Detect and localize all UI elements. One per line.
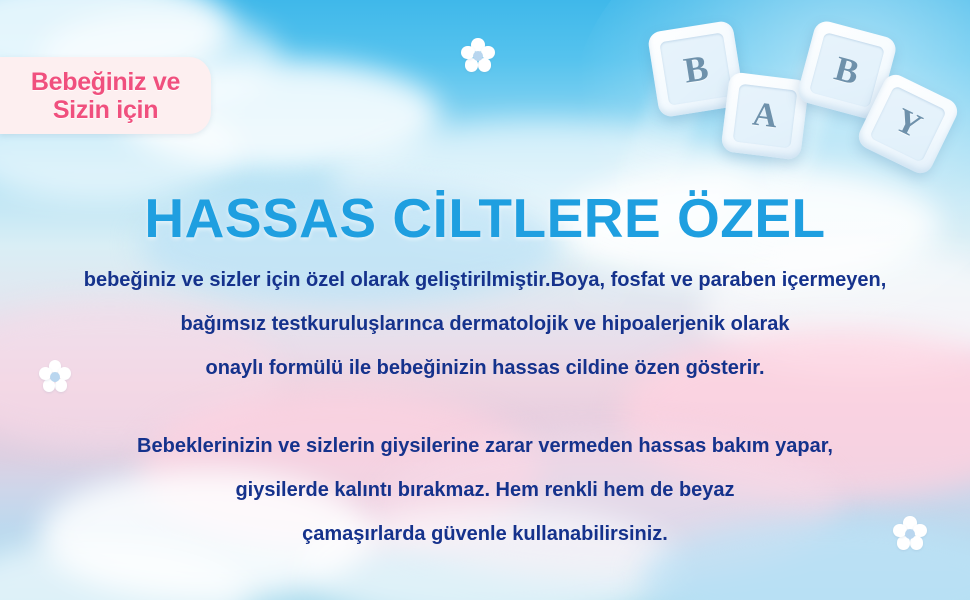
flower-petal	[481, 46, 495, 60]
description-paragraph-1: bebeğiniz ve sizler için özel olarak gel…	[0, 258, 970, 390]
baby-block-letter: A	[751, 98, 780, 135]
flower-petal	[471, 38, 485, 52]
flower-petal	[465, 58, 479, 72]
flower-top-center-icon	[458, 36, 498, 76]
page-title: HASSAS CİLTLERE ÖZEL	[0, 186, 970, 250]
paragraph-line: Bebeklerinizin ve sizlerin giysilerine z…	[0, 424, 970, 468]
flower-petal	[461, 46, 475, 60]
paragraph-line: bağımsız testkuruluşlarınca dermatolojik…	[0, 302, 970, 346]
baby-block-a-1: A	[720, 71, 809, 160]
paragraph-line: onaylı formülü ile bebeğinizin hassas ci…	[0, 346, 970, 390]
description-paragraph-2: Bebeklerinizin ve sizlerin giysilerine z…	[0, 424, 970, 556]
badge-line-1: Bebeğiniz ve	[31, 68, 180, 96]
promo-banner: Bebeğiniz ve Sizin için HASSAS CİLTLERE …	[0, 0, 970, 600]
paragraph-line: giysilerde kalıntı bırakmaz. Hem renkli …	[0, 468, 970, 512]
paragraph-line: bebeğiniz ve sizler için özel olarak gel…	[0, 258, 970, 302]
flower-petal	[478, 58, 492, 72]
promo-badge: Bebeğiniz ve Sizin için	[0, 57, 211, 134]
flower-center	[473, 51, 483, 61]
paragraph-line: çamaşırlarda güvenle kullanabilirsiniz.	[0, 512, 970, 556]
badge-line-2: Sizin için	[53, 96, 158, 124]
